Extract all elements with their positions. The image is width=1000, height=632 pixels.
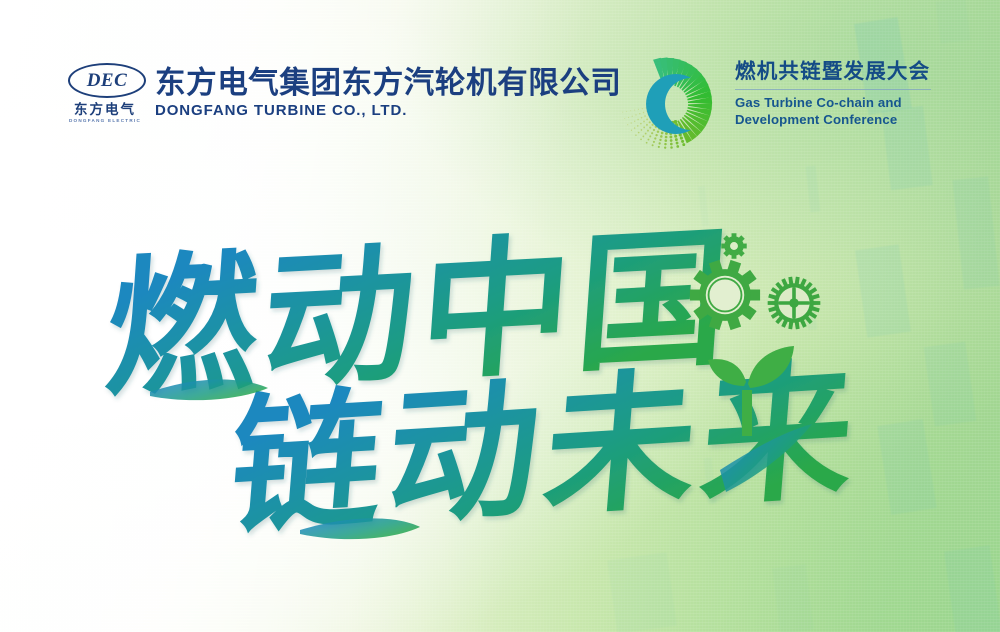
dec-monogram: DEC xyxy=(87,71,128,90)
background-tile xyxy=(936,0,971,44)
company-name-block: 东方电气集团东方汽轮机有限公司 DONGFANG TURBINE CO., LT… xyxy=(155,67,622,119)
company-name-en: DONGFANG TURBINE CO., LTD. xyxy=(155,103,622,120)
company-name-cn: 东方电气集团东方汽轮机有限公司 xyxy=(155,67,622,99)
conference-text-block: 燃机共链暨发展大会 Gas Turbine Co-chain and Devel… xyxy=(735,52,931,128)
background-tile xyxy=(607,552,677,632)
dec-logo-cn: 东方电气 xyxy=(68,103,142,117)
dec-logo-en: DONGFANG ELECTRIC xyxy=(68,119,142,124)
conference-title-en-2: Development Conference xyxy=(735,112,931,129)
conference-title-cn: 燃机共链暨发展大会 xyxy=(735,62,931,83)
turbine-burst-icon xyxy=(617,52,721,156)
dec-oval-icon: DEC xyxy=(68,63,146,98)
poster-canvas: DEC 东方电气 DONGFANG ELECTRIC 东方电气集团东方汽轮机有限… xyxy=(0,0,1000,632)
dec-logo-mark: DEC 东方电气 DONGFANG ELECTRIC xyxy=(68,63,142,124)
conference-title-en-1: Gas Turbine Co-chain and xyxy=(735,95,931,112)
conference-divider xyxy=(735,89,931,90)
conference-logo-lockup: 燃机共链暨发展大会 Gas Turbine Co-chain and Devel… xyxy=(617,52,931,156)
company-logo-lockup: DEC 东方电气 DONGFANG ELECTRIC 东方电气集团东方汽轮机有限… xyxy=(68,63,622,124)
